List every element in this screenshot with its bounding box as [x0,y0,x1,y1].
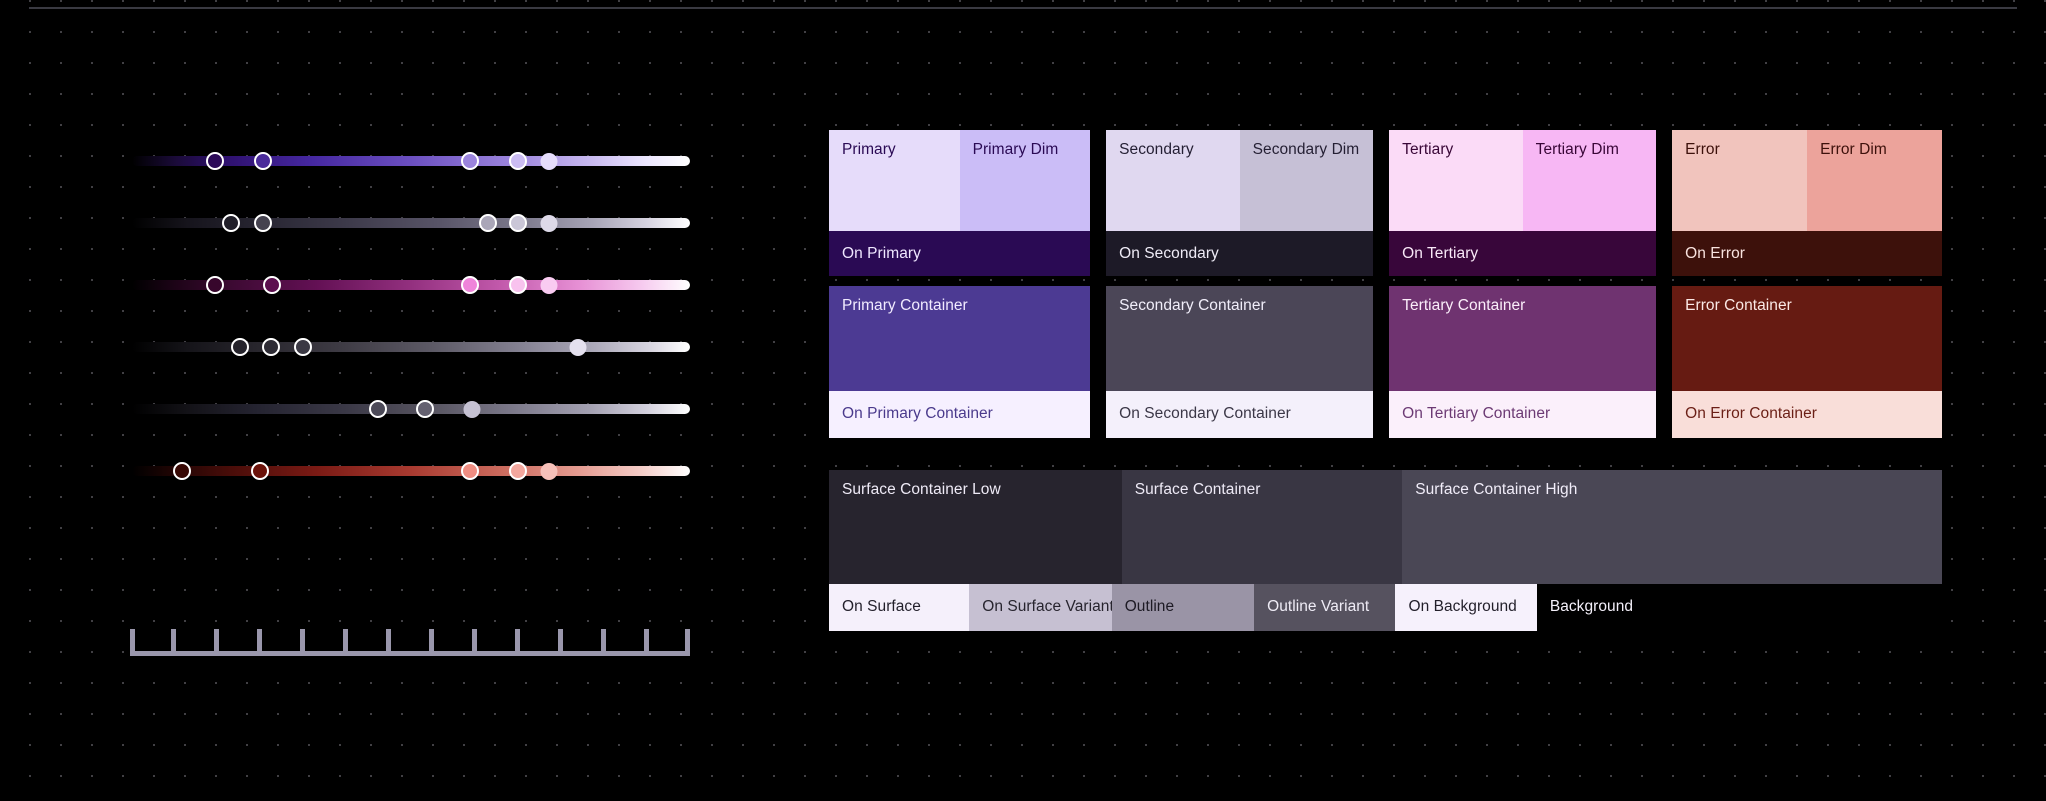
secondary-tonal-slider-thumb-1[interactable] [222,214,240,232]
primary-tonal-slider-thumb-1[interactable] [206,152,224,170]
swatch-on-surface-2[interactable]: On Surface Variant [969,584,1111,631]
ruler-tick-10 [515,629,520,656]
swatch-surface-label-3: Surface Container High [1415,481,1577,500]
neutral-tonal-slider-thumb-4[interactable] [570,339,587,356]
swatch-label-on-error: On Error [1685,245,1745,264]
secondary-tonal-slider[interactable] [132,214,690,232]
error-tonal-slider-thumb-2[interactable] [251,462,269,480]
ruler-tick-12 [601,629,606,656]
neutral-variant-tonal-slider-thumb-3[interactable] [464,401,481,418]
tertiary-bottom-group: Tertiary Container On Tertiary Container [1389,286,1656,438]
ruler-tick-11 [558,629,563,656]
swatch-on-secondary[interactable]: On Secondary [1106,231,1373,276]
swatch-surface-1[interactable]: Surface Container Low [829,470,1122,584]
color-group-error: Error Error Dim On Error Error Container… [1672,130,1942,438]
swatch-surface-3[interactable]: Surface Container High [1402,470,1942,584]
secondary-top-group: Secondary Secondary Dim On Secondary [1106,130,1373,276]
swatch-surface-label-2: Surface Container [1135,481,1261,500]
swatch-label-on-error-container: On Error Container [1685,405,1817,424]
error-tonal-slider-thumb-4[interactable] [509,462,527,480]
swatch-tertiary-dim[interactable]: Tertiary Dim [1523,130,1657,231]
tertiary-tonal-slider-thumb-4[interactable] [509,276,527,294]
error-bottom-group: Error Container On Error Container [1672,286,1942,438]
surface-roles-sheet: Surface Container LowSurface ContainerSu… [829,470,1942,631]
swatch-surface-label-1: Surface Container Low [842,481,1001,500]
swatch-label-on-secondary: On Secondary [1119,245,1219,264]
swatch-label-tertiary-dim: Tertiary Dim [1536,141,1619,160]
secondary-tone-pair: Secondary Secondary Dim [1106,130,1373,231]
swatch-on-surface-label-3: Outline [1125,598,1174,617]
primary-tonal-slider-thumb-5[interactable] [541,153,558,170]
swatch-secondary-container[interactable]: Secondary Container [1106,286,1373,391]
ruler-tick-9 [472,629,477,656]
ruler-tick-4 [257,629,262,656]
swatch-on-primary-container[interactable]: On Primary Container [829,391,1090,438]
swatch-on-surface-1[interactable]: On Surface [829,584,969,631]
color-group-secondary: Secondary Secondary Dim On Secondary Sec… [1106,130,1373,438]
secondary-tonal-slider-thumb-2[interactable] [254,214,272,232]
swatch-tertiary[interactable]: Tertiary [1389,130,1523,231]
ruler-tick-1 [130,629,135,656]
on-surface-row: On SurfaceOn Surface VariantOutlineOutli… [829,584,1942,631]
ruler-tick-8 [429,629,434,656]
surface-container-row: Surface Container LowSurface ContainerSu… [829,470,1942,584]
error-tonal-slider[interactable] [132,462,690,480]
neutral-variant-tonal-slider-thumb-2[interactable] [416,400,434,418]
swatch-on-surface-label-6: Background [1550,598,1633,617]
swatch-label-error-dim: Error Dim [1820,141,1887,160]
swatch-label-on-tertiary-container: On Tertiary Container [1402,405,1550,424]
neutral-tonal-slider-thumb-1[interactable] [231,338,249,356]
swatch-label-error: Error [1685,141,1720,160]
secondary-tonal-slider-thumb-5[interactable] [541,215,558,232]
primary-tonal-slider-thumb-4[interactable] [509,152,527,170]
primary-tonal-slider-thumb-3[interactable] [461,152,479,170]
neutral-variant-tonal-slider[interactable] [132,400,690,418]
swatch-label-tertiary-container: Tertiary Container [1402,297,1525,316]
swatch-secondary-dim[interactable]: Secondary Dim [1240,130,1374,231]
swatch-on-primary[interactable]: On Primary [829,231,1090,276]
swatch-label-secondary-dim: Secondary Dim [1253,141,1360,160]
neutral-tonal-slider-track[interactable] [132,342,690,352]
secondary-tonal-slider-track[interactable] [132,218,690,228]
swatch-label-primary-container: Primary Container [842,297,968,316]
secondary-bottom-group: Secondary Container On Secondary Contain… [1106,286,1373,438]
primary-bottom-group: Primary Container On Primary Container [829,286,1090,438]
ruler-tick-14 [685,629,690,656]
swatch-error-container[interactable]: Error Container [1672,286,1942,391]
swatch-label-primary-dim: Primary Dim [973,141,1059,160]
error-top-group: Error Error Dim On Error [1672,130,1942,276]
swatch-label-secondary-container: Secondary Container [1119,297,1266,316]
swatch-label-secondary: Secondary [1119,141,1194,160]
neutral-tonal-slider-thumb-3[interactable] [294,338,312,356]
primary-top-group: Primary Primary Dim On Primary [829,130,1090,276]
color-group-tertiary: Tertiary Tertiary Dim On Tertiary Tertia… [1389,130,1656,438]
swatch-on-surface-5[interactable]: On Background [1395,584,1536,631]
error-tonal-slider-track[interactable] [132,466,690,476]
error-tonal-slider-thumb-1[interactable] [173,462,191,480]
tonal-sliders-panel [0,0,700,801]
tick-ruler[interactable] [130,622,690,656]
canvas-root: Primary Primary Dim On Primary Primary C… [0,0,2046,801]
swatch-on-surface-label-2: On Surface Variant [982,598,1114,617]
error-tone-pair: Error Error Dim [1672,130,1942,231]
swatch-on-tertiary-container[interactable]: On Tertiary Container [1389,391,1656,438]
color-group-primary: Primary Primary Dim On Primary Primary C… [829,130,1090,438]
tertiary-tonal-slider-thumb-3[interactable] [461,276,479,294]
swatch-surface-2[interactable]: Surface Container [1122,470,1402,584]
neutral-variant-tonal-slider-track[interactable] [132,404,690,414]
swatch-on-surface-4[interactable]: Outline Variant [1254,584,1395,631]
tertiary-tonal-slider[interactable] [132,276,690,294]
ruler-tick-13 [644,629,649,656]
swatch-error[interactable]: Error [1672,130,1807,231]
secondary-tonal-slider-thumb-3[interactable] [479,214,497,232]
swatch-label-on-primary: On Primary [842,245,921,264]
ruler-tick-3 [214,629,219,656]
swatch-on-tertiary[interactable]: On Tertiary [1389,231,1656,276]
neutral-variant-tonal-slider-thumb-1[interactable] [369,400,387,418]
swatch-on-error-container[interactable]: On Error Container [1672,391,1942,438]
swatch-tertiary-container[interactable]: Tertiary Container [1389,286,1656,391]
swatch-on-error[interactable]: On Error [1672,231,1942,276]
error-tonal-slider-thumb-5[interactable] [541,463,558,480]
color-roles-sheet: Primary Primary Dim On Primary Primary C… [829,130,1942,438]
tertiary-tonal-slider-thumb-5[interactable] [541,277,558,294]
primary-tone-pair: Primary Primary Dim [829,130,1090,231]
swatch-on-surface-label-5: On Background [1408,598,1516,617]
tertiary-top-group: Tertiary Tertiary Dim On Tertiary [1389,130,1656,276]
ruler-tick-6 [343,629,348,656]
swatch-primary-container[interactable]: Primary Container [829,286,1090,391]
ruler-tick-5 [300,629,305,656]
tertiary-tonal-slider-thumb-2[interactable] [263,276,281,294]
ruler-tick-2 [171,629,176,656]
secondary-tonal-slider-thumb-4[interactable] [509,214,527,232]
swatch-secondary[interactable]: Secondary [1106,130,1240,231]
swatch-on-secondary-container[interactable]: On Secondary Container [1106,391,1373,438]
primary-tonal-slider-thumb-2[interactable] [254,152,272,170]
tertiary-tone-pair: Tertiary Tertiary Dim [1389,130,1656,231]
neutral-tonal-slider-thumb-2[interactable] [262,338,280,356]
swatch-primary[interactable]: Primary [829,130,960,231]
swatch-label-primary: Primary [842,141,896,160]
swatch-label-on-tertiary: On Tertiary [1402,245,1478,264]
primary-tonal-slider[interactable] [132,152,690,170]
neutral-tonal-slider[interactable] [132,338,690,356]
ruler-tick-7 [386,629,391,656]
swatch-label-tertiary: Tertiary [1402,141,1453,160]
swatch-primary-dim[interactable]: Primary Dim [960,130,1091,231]
swatch-on-surface-6[interactable]: Background [1537,584,1942,631]
error-tonal-slider-thumb-3[interactable] [461,462,479,480]
tertiary-tonal-slider-thumb-1[interactable] [206,276,224,294]
swatch-error-dim[interactable]: Error Dim [1807,130,1942,231]
swatch-on-surface-3[interactable]: Outline [1112,584,1254,631]
swatch-label-error-container: Error Container [1685,297,1792,316]
swatch-label-on-secondary-container: On Secondary Container [1119,405,1291,424]
swatch-on-surface-label-4: Outline Variant [1267,598,1369,617]
swatch-on-surface-label-1: On Surface [842,598,921,617]
swatch-label-on-primary-container: On Primary Container [842,405,993,424]
